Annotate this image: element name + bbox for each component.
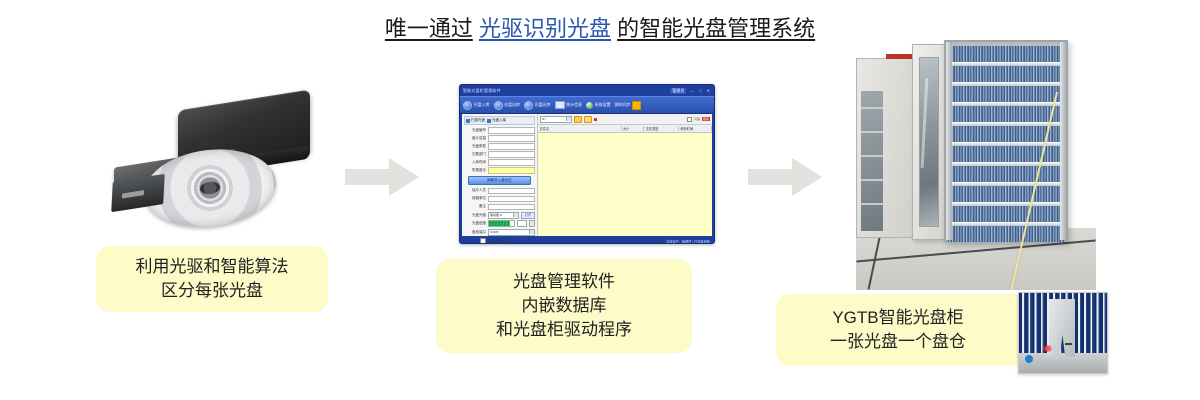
window-body: 扫描光盘 光盘入库 光盘编号 盘片容量 光盘类型 — [460, 114, 714, 238]
auto-read-checkbox[interactable]: 自动读取盘片信息 — [480, 238, 535, 244]
checkbox-box — [480, 238, 486, 244]
drive-select[interactable]: 驱动器 D — [488, 212, 519, 219]
refresh-slot-button[interactable]: 刷新并入盘仓位 — [468, 176, 531, 185]
field-row: 归属部门 — [464, 151, 535, 158]
ribbon-button-settings[interactable]: 系统设置 — [586, 102, 611, 109]
blue-indicator-dot — [1025, 355, 1033, 363]
ribbon-button-disc-out[interactable]: 光盘出库 — [494, 101, 521, 110]
port-row: 盘柜端口 COM3 — [464, 229, 535, 236]
user-chip[interactable]: 管理员 — [670, 88, 686, 94]
column-header-size[interactable]: 大小 — [622, 126, 645, 131]
door-glass-panel — [919, 57, 939, 227]
field-label: 光盘类型 — [464, 144, 486, 149]
field-label: 所属盘仓 — [464, 168, 486, 173]
flow-arrow-2 — [748, 158, 822, 196]
file-pane-toolbar: D:\ 只读 刷新 — [538, 114, 712, 125]
field-label: 备注 — [464, 204, 486, 209]
cabinet-open-door — [912, 44, 946, 240]
ribbon-toolbar: 光盘入库 光盘出库 光盘还库 统计信息 系统设置 即时同步 — [460, 96, 714, 114]
port-select-value: COM3 — [489, 230, 499, 234]
file-pane: D:\ 只读 刷新 文件名 大小 文件类型 修改时间 — [538, 114, 712, 236]
path-select[interactable]: D:\ — [540, 116, 572, 123]
open-drive-button[interactable]: 打开 — [521, 212, 535, 219]
caption-middle: 光盘管理软件 内嵌数据库 和光盘柜驱动程序 — [436, 259, 692, 353]
readonly-label: 只读 — [694, 117, 700, 121]
tab-scan-disc[interactable]: 扫描光盘 — [466, 118, 485, 123]
progress-value — [517, 220, 527, 227]
intake-time-input[interactable] — [488, 159, 535, 166]
title-part-1: 唯一通过 — [385, 16, 473, 41]
disc-in-small-icon — [487, 119, 491, 123]
background-cabinet-glass — [861, 91, 883, 231]
ribbon-label: 光盘还库 — [535, 102, 551, 108]
gear-icon — [586, 102, 593, 109]
field-label: 盘柜端口 — [464, 230, 486, 235]
ribbon-label: 光盘入库 — [474, 102, 490, 108]
caption-line: YGTB智能光盘柜 — [832, 306, 963, 330]
column-header-name[interactable]: 文件名 — [538, 126, 622, 131]
software-window[interactable]: 智能光盘柜管理软件 管理员 — □ ✕ 光盘入库 光盘出库 光盘还库 统计信息 — [459, 84, 715, 244]
ribbon-button-stats[interactable]: 统计信息 — [555, 101, 583, 109]
stepper-icon[interactable] — [529, 220, 535, 227]
tab-label: 扫描光盘 — [471, 118, 485, 123]
field-row: 所属盘仓 — [464, 167, 535, 174]
field-row: 保管单位 — [464, 196, 535, 203]
disc-cabinet-photo — [856, 40, 1096, 290]
tab-label: 光盘入库 — [492, 118, 506, 123]
field-label: 光盘编号 — [464, 128, 486, 133]
caption-line: 和光盘柜驱动程序 — [496, 318, 632, 342]
stop-icon[interactable] — [594, 118, 597, 121]
custodian-input[interactable] — [488, 196, 535, 203]
stats-icon — [555, 101, 565, 109]
folder-icon[interactable] — [584, 116, 592, 123]
department-input[interactable] — [488, 151, 535, 158]
close-icon[interactable]: ✕ — [706, 88, 711, 93]
chevron-down-icon — [566, 117, 571, 121]
cabinet-shelf-frame — [944, 40, 1068, 242]
field-row: 盘片容量 — [464, 135, 535, 142]
operator-input[interactable] — [488, 188, 535, 195]
field-row: 光盘编号 — [464, 127, 535, 134]
field-label: 光盘光驱 — [464, 213, 486, 218]
red-led-indicator — [1043, 345, 1052, 352]
field-label: 入库时间 — [464, 160, 486, 165]
field-label: 光盘进度 — [464, 221, 486, 226]
disc-number-input[interactable] — [488, 127, 535, 134]
field-row: 入库时间 — [464, 159, 535, 166]
readonly-checkbox[interactable] — [687, 117, 692, 122]
disc-borrow-icon — [524, 101, 533, 110]
chevron-down-icon — [529, 230, 534, 234]
ribbon-label: 系统设置 — [595, 102, 611, 108]
read-progress-bar — [488, 220, 515, 227]
caption-line: 内嵌数据库 — [522, 294, 607, 318]
column-header-type[interactable]: 文件类型 — [644, 126, 679, 131]
button-label: 刷新并入盘仓位 — [487, 178, 512, 183]
disc-type-input[interactable] — [488, 143, 535, 150]
gripper-inset-photo — [1018, 292, 1108, 374]
column-header-modified[interactable]: 修改时间 — [679, 126, 712, 131]
glass-reflection — [921, 78, 929, 168]
field-label: 盘片容量 — [464, 136, 486, 141]
gripper-slit — [1065, 343, 1072, 345]
field-row: 经办人员 — [464, 188, 535, 195]
folder-open-icon[interactable] — [574, 116, 582, 123]
maximize-icon[interactable]: □ — [698, 88, 702, 93]
checkbox-label: 自动读取盘片信息 — [488, 238, 514, 243]
disc-out-icon — [494, 101, 503, 110]
window-title: 智能光盘柜管理软件 — [463, 88, 501, 94]
field-row: 备注 — [464, 204, 535, 211]
poster-canvas: 唯一通过 光驱识别光盘 的智能光盘管理系统 智能光盘柜管理软件 管理员 — □ … — [0, 0, 1200, 400]
field-label: 保管单位 — [464, 196, 486, 201]
caption-line: 光盘管理软件 — [513, 270, 615, 294]
caption-line: 区分每张光盘 — [161, 279, 263, 303]
ribbon-button-disc-borrow[interactable]: 光盘还库 — [524, 101, 551, 110]
path-value: D:\ — [541, 117, 566, 121]
flow-arrow-1 — [345, 158, 419, 196]
file-list-area[interactable] — [538, 133, 712, 236]
status-text: 当前用户：管理员 | 已连接盘柜 — [666, 239, 710, 244]
panel-tabs: 扫描光盘 光盘入库 — [464, 116, 535, 125]
ribbon-label: 光盘出库 — [504, 102, 520, 108]
ribbon-button-sync[interactable]: 即时同步 — [615, 101, 642, 110]
file-list-header: 文件名 大小 文件类型 修改时间 — [538, 125, 712, 133]
disc-in-icon — [463, 101, 472, 110]
ribbon-button-disc-in[interactable]: 光盘入库 — [463, 101, 490, 110]
sync-icon — [632, 101, 641, 110]
caption-line: 一张光盘一个盘仓 — [830, 330, 966, 354]
minimize-icon[interactable]: — — [689, 88, 695, 93]
field-label: 经办人员 — [464, 188, 486, 193]
background-cabinet — [856, 58, 918, 238]
title-highlight: 光驱识别光盘 — [479, 16, 611, 41]
disc-capacity-input[interactable] — [488, 135, 535, 142]
drive-select-row: 光盘光驱 驱动器 D 打开 — [464, 212, 535, 219]
ribbon-label: 统计信息 — [566, 102, 582, 108]
refresh-button[interactable]: 刷新 — [702, 117, 710, 121]
caption-left: 利用光驱和智能算法 区分每张光盘 — [96, 246, 328, 312]
drive-select-value: 驱动器 D — [489, 213, 502, 217]
field-row: 光盘类型 — [464, 143, 535, 150]
chevron-down-icon — [513, 213, 518, 217]
field-label: 归属部门 — [464, 152, 486, 157]
red-label-strip — [886, 54, 912, 59]
dvd-drive-photo — [112, 96, 312, 222]
remark-input[interactable] — [488, 204, 535, 211]
ribbon-label: 即时同步 — [615, 102, 631, 108]
scan-icon — [466, 119, 470, 123]
port-select[interactable]: COM3 — [488, 229, 535, 236]
window-titlebar: 智能光盘柜管理软件 管理员 — □ ✕ — [460, 85, 714, 96]
title-part-2: 的智能光盘管理系统 — [617, 16, 815, 41]
progress-row: 光盘进度 — [464, 220, 535, 227]
caption-line: 利用光驱和智能算法 — [136, 255, 289, 279]
tab-disc-in[interactable]: 光盘入库 — [487, 118, 506, 123]
slot-input[interactable] — [488, 167, 535, 174]
form-panel: 扫描光盘 光盘入库 光盘编号 盘片容量 光盘类型 — [462, 114, 538, 236]
